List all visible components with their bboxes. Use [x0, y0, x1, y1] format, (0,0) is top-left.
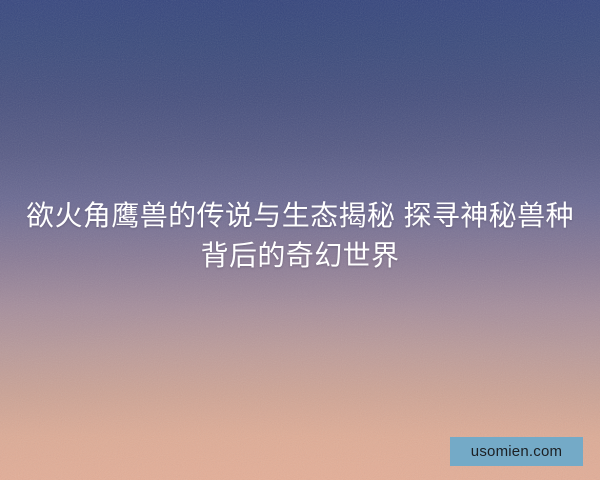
- watermark-badge: usomien.com: [450, 437, 583, 466]
- watermark-label: usomien.com: [471, 444, 562, 459]
- banner-image: 欲火角鹰兽的传说与生态揭秘 探寻神秘兽种背后的奇幻世界 usomien.com: [0, 0, 600, 480]
- page-title: 欲火角鹰兽的传说与生态揭秘 探寻神秘兽种背后的奇幻世界: [0, 196, 600, 276]
